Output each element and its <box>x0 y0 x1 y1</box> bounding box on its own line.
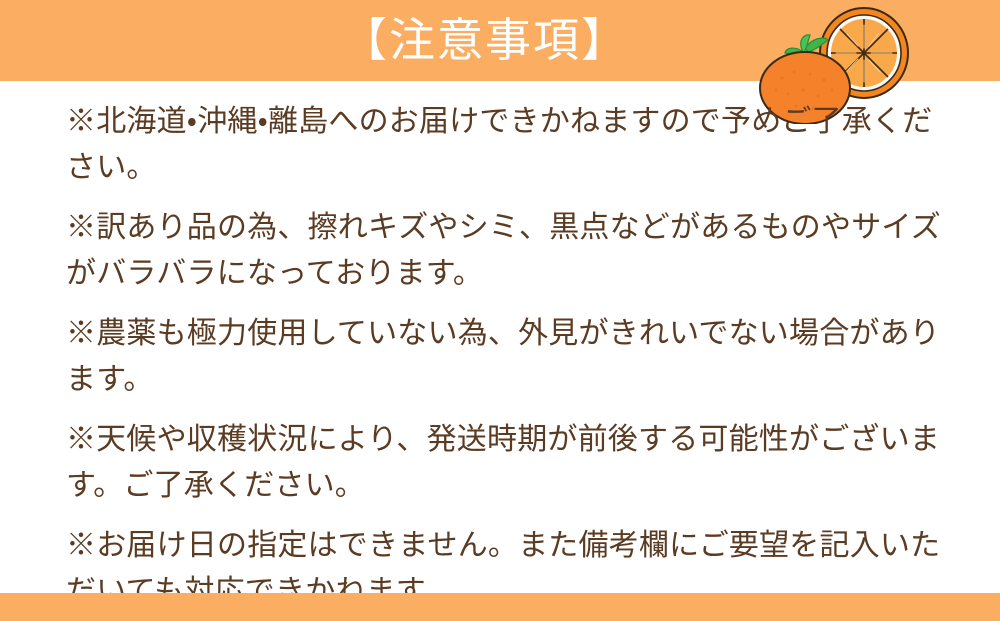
page-title: 【注意事項】 <box>0 0 1000 81</box>
notice-item: ※北海道・沖縄・離島へのお届けできかねますので予めご了承ください。 <box>66 99 948 191</box>
notice-item: ※農薬も極力使用していない為、外見がきれいでない場合があります。 <box>66 311 948 403</box>
notice-item: ※訳あり品の為、擦れキズやシミ、黒点などがあるものやサイズがバラバラになっており… <box>66 205 948 297</box>
notice-list: ※北海道・沖縄・離島へのお届けできかねますので予めご了承ください。 ※訳あり品の… <box>66 99 948 621</box>
notice-item: ※天候や収穫状況により、発送時期が前後する可能性がございます。ご了承ください。 <box>66 417 948 509</box>
notice-page: 【注意事項】 <box>0 0 1000 621</box>
footer-band <box>0 593 1000 621</box>
